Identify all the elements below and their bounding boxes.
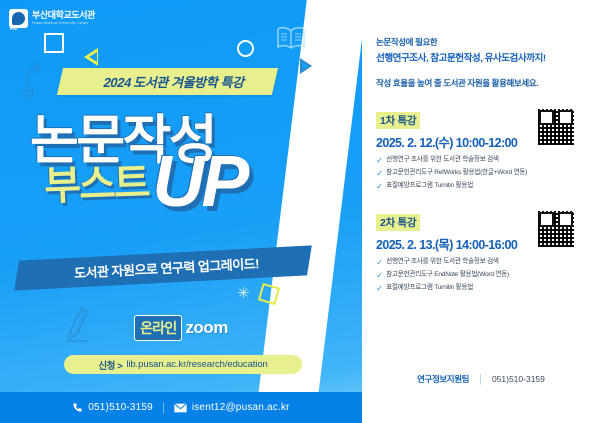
session-2-bullet-2: 참고문헌관리도구 EndNote 활용법(Word 연동): [386, 271, 509, 279]
list-item: ✓ 표절예방프로그램 Turnitin 활용법: [376, 284, 588, 294]
online-badge: 온라인: [134, 315, 182, 341]
support-team-phone: 051)510-3159: [492, 374, 545, 384]
mail-icon: [174, 403, 187, 413]
session-2-bullets: ✓ 선행연구 조사를 위한 도서관 학술정보 검색 ✓ 참고문헌관리도구 End…: [376, 258, 588, 293]
triangle-left-yellow-inner: [89, 52, 97, 62]
check-icon: ✓: [376, 271, 383, 281]
curved-arrow-icon: [20, 58, 46, 98]
qr-code-session-2[interactable]: [538, 211, 574, 247]
right-separator: |: [479, 373, 482, 385]
footer-email-item[interactable]: isent12@pusan.ac.kr: [174, 402, 290, 413]
logo-name-en: Pusan National University Library: [32, 22, 95, 26]
session-2-badge: 2차 특강: [376, 214, 420, 231]
intro-line-1: 논문작성에 필요한: [376, 36, 588, 48]
open-book-icon: [276, 25, 306, 51]
logo-mark-icon: PNU: [9, 9, 28, 28]
university-library-logo: PNU 부산대학교도서관 Pusan National University L…: [9, 9, 95, 28]
list-item: ✓ 참고문헌관리도구 EndNote 활용법(Word 연동): [376, 271, 588, 281]
list-item: ✓ 표절예방프로그램 Turnitin 활용법: [376, 182, 588, 192]
check-icon: ✓: [376, 169, 383, 179]
footer-contact-bar: 051)510-3159 | isent12@pusan.ac.kr: [0, 392, 362, 423]
logo-text: 부산대학교도서관 Pusan National University Libra…: [32, 11, 95, 26]
sparkle-icon: ✳: [237, 284, 250, 302]
session-1-bullet-2: 참고문헌관리도구 RefWorks 활용법(한글+Word 연동): [386, 169, 527, 177]
session-1-bullets: ✓ 선행연구 조사를 위한 도서관 학술정보 검색 ✓ 참고문헌관리도구 Ref…: [376, 156, 588, 191]
session-1-bullet-1: 선행연구 조사를 위한 도서관 학술정보 검색: [386, 156, 499, 164]
right-info-panel: 논문작성에 필요한 선행연구조사, 참고문헌작성, 유사도검사까지! 작성 효율…: [362, 0, 600, 423]
logo-name-ko: 부산대학교도서관: [32, 11, 95, 20]
main-title-line2: 부스트 UP: [44, 152, 246, 210]
footer-email-text: isent12@pusan.ac.kr: [192, 402, 290, 413]
main-title-boost: 부스트: [43, 150, 149, 212]
session-2-bullet-1: 선행연구 조사를 위한 도서관 학술정보 검색: [386, 258, 499, 266]
support-team-label: 연구정보지원팀: [417, 373, 469, 385]
check-icon: ✓: [376, 258, 383, 268]
logo-abbr: PNU: [10, 27, 17, 31]
apply-label: 신청 >: [98, 358, 122, 372]
list-item: ✓ 선행연구 조사를 위한 도서관 학술정보 검색: [376, 156, 588, 166]
footer-separator: |: [162, 402, 165, 414]
online-zoom-row: 온라인 zoom: [0, 315, 362, 341]
session-block-1: 1차 특강 2025. 2. 12.(수) 10:00-12:00 ✓ 선행연구…: [376, 111, 588, 191]
footer-phone-text: 051)510-3159: [88, 402, 153, 413]
phone-icon: [72, 402, 83, 413]
apply-link-pill[interactable]: 신청 > lib.pusan.ac.kr/research/education: [64, 355, 302, 374]
circle-outline-icon: [237, 40, 254, 57]
intro-line-3: 작성 효율을 높여 줄 도서관 자원을 활용해보세요.: [376, 77, 588, 89]
right-contact-row: 연구정보지원팀 | 051)510-3159: [362, 373, 600, 385]
list-item: ✓ 선행연구 조사를 위한 도서관 학술정보 검색: [376, 258, 588, 268]
list-item: ✓ 참고문헌관리도구 RefWorks 활용법(한글+Word 연동): [376, 169, 588, 179]
zoom-label: zoom: [185, 318, 227, 338]
left-visual-panel: PNU 부산대학교도서관 Pusan National University L…: [0, 0, 362, 423]
main-title-up: UP: [152, 154, 246, 210]
session-2-bullet-3: 표절예방프로그램 Turnitin 활용법: [386, 284, 473, 292]
qr-code-session-1[interactable]: [538, 109, 574, 145]
check-icon: ✓: [376, 156, 383, 166]
session-1-bullet-3: 표절예방프로그램 Turnitin 활용법: [386, 182, 473, 190]
check-icon: ✓: [376, 284, 383, 294]
intro-line-2: 선행연구조사, 참고문헌작성, 유사도검사까지!: [376, 50, 588, 64]
apply-url[interactable]: lib.pusan.ac.kr/research/education: [126, 359, 267, 370]
session-1-badge: 1차 특강: [376, 112, 420, 129]
session-block-2: 2차 특강 2025. 2. 13.(목) 14:00-16:00 ✓ 선행연구…: [376, 213, 588, 293]
check-icon: ✓: [376, 182, 383, 192]
footer-phone-item[interactable]: 051)510-3159: [72, 402, 153, 413]
headline-ribbon-text: 2024 도서관 겨울방학 특강: [70, 72, 279, 91]
triangle-right-blue-inner: [302, 62, 309, 70]
right-bottom-strip: [362, 392, 600, 423]
square-outline-icon: [44, 33, 64, 53]
poster-canvas: PNU 부산대학교도서관 Pusan National University L…: [0, 0, 600, 423]
